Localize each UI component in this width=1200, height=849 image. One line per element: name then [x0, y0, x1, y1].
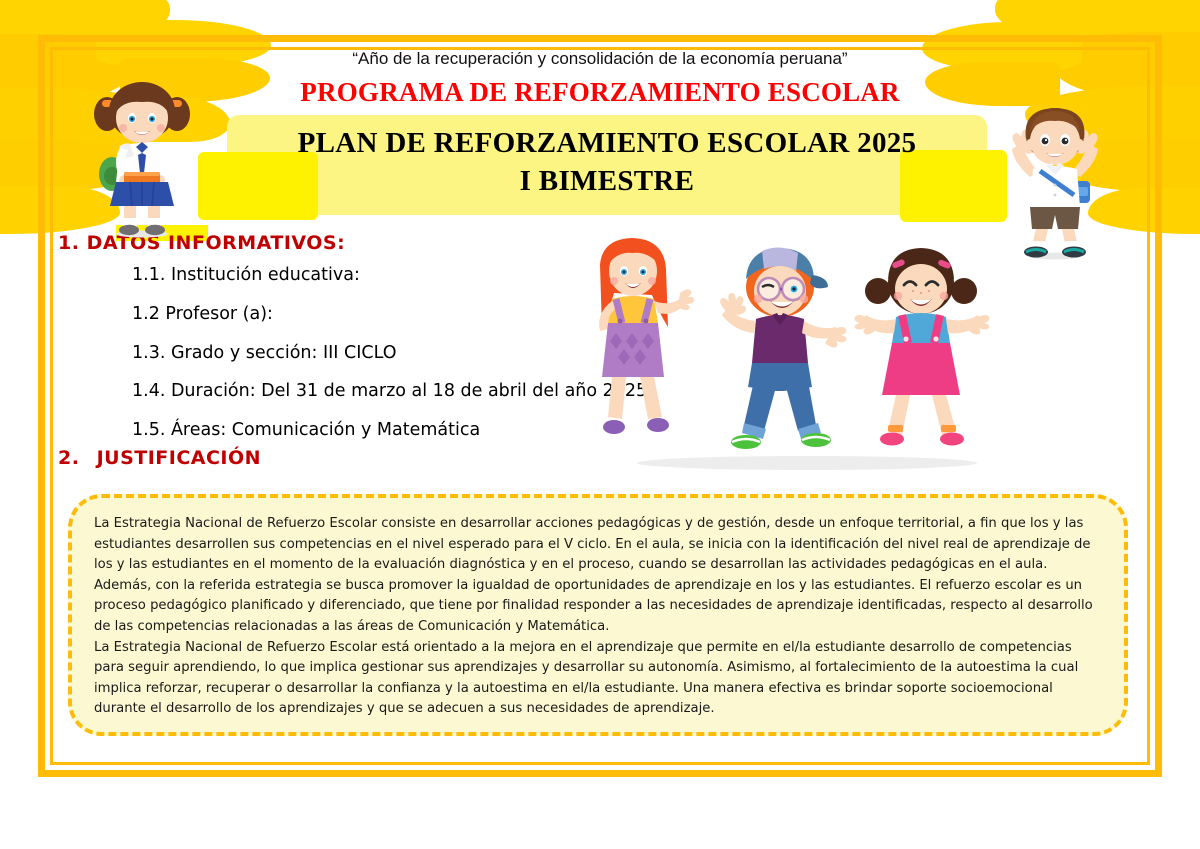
info-item-profesor: 1.2 Profesor (a):	[132, 304, 273, 324]
section-2-label: JUSTIFICACIÓN	[97, 447, 261, 469]
section-heading-justificacion: 2. JUSTIFICACIÓN	[58, 447, 261, 469]
page-title: PLAN DE REFORZAMIENTO ESCOLAR 2025 I BIM…	[227, 123, 987, 199]
three-happy-children-waving-clipart	[592, 235, 1022, 475]
info-item-grado-seccion: 1.3. Grado y sección: III CICLO	[132, 343, 397, 363]
info-item-duracion: 1.4. Duración: Del 31 de marzo al 18 de …	[132, 381, 647, 401]
page-title-line2: I BIMESTRE	[227, 163, 987, 199]
kid-redhair-girl	[599, 238, 694, 434]
info-item-areas: 1.5. Áreas: Comunicación y Matemática	[132, 420, 480, 440]
worksheet-page: “Año de la recuperación y consolidación …	[0, 0, 1200, 849]
page-title-line1: PLAN DE REFORZAMIENTO ESCOLAR 2025	[227, 123, 987, 163]
info-item-institucion: 1.1. Institución educativa:	[132, 265, 360, 285]
programa-title: PROGRAMA DE REFORZAMIENTO ESCOLAR	[50, 77, 1150, 108]
schoolgirl-with-backpack-clipart	[90, 78, 194, 238]
kid-brownhair-girl	[855, 248, 990, 446]
lema-del-ano: “Año de la recuperación y consolidación …	[50, 49, 1150, 69]
kid-boy-with-cap	[720, 247, 846, 449]
section-2-number: 2.	[58, 447, 79, 469]
justificacion-box: La Estrategia Nacional de Refuerzo Escol…	[68, 494, 1128, 736]
justificacion-paragraph-1: La Estrategia Nacional de Refuerzo Escol…	[94, 514, 1102, 638]
justificacion-paragraph-2: La Estrategia Nacional de Refuerzo Escol…	[94, 638, 1102, 720]
section-1-number: 1.	[58, 232, 79, 254]
